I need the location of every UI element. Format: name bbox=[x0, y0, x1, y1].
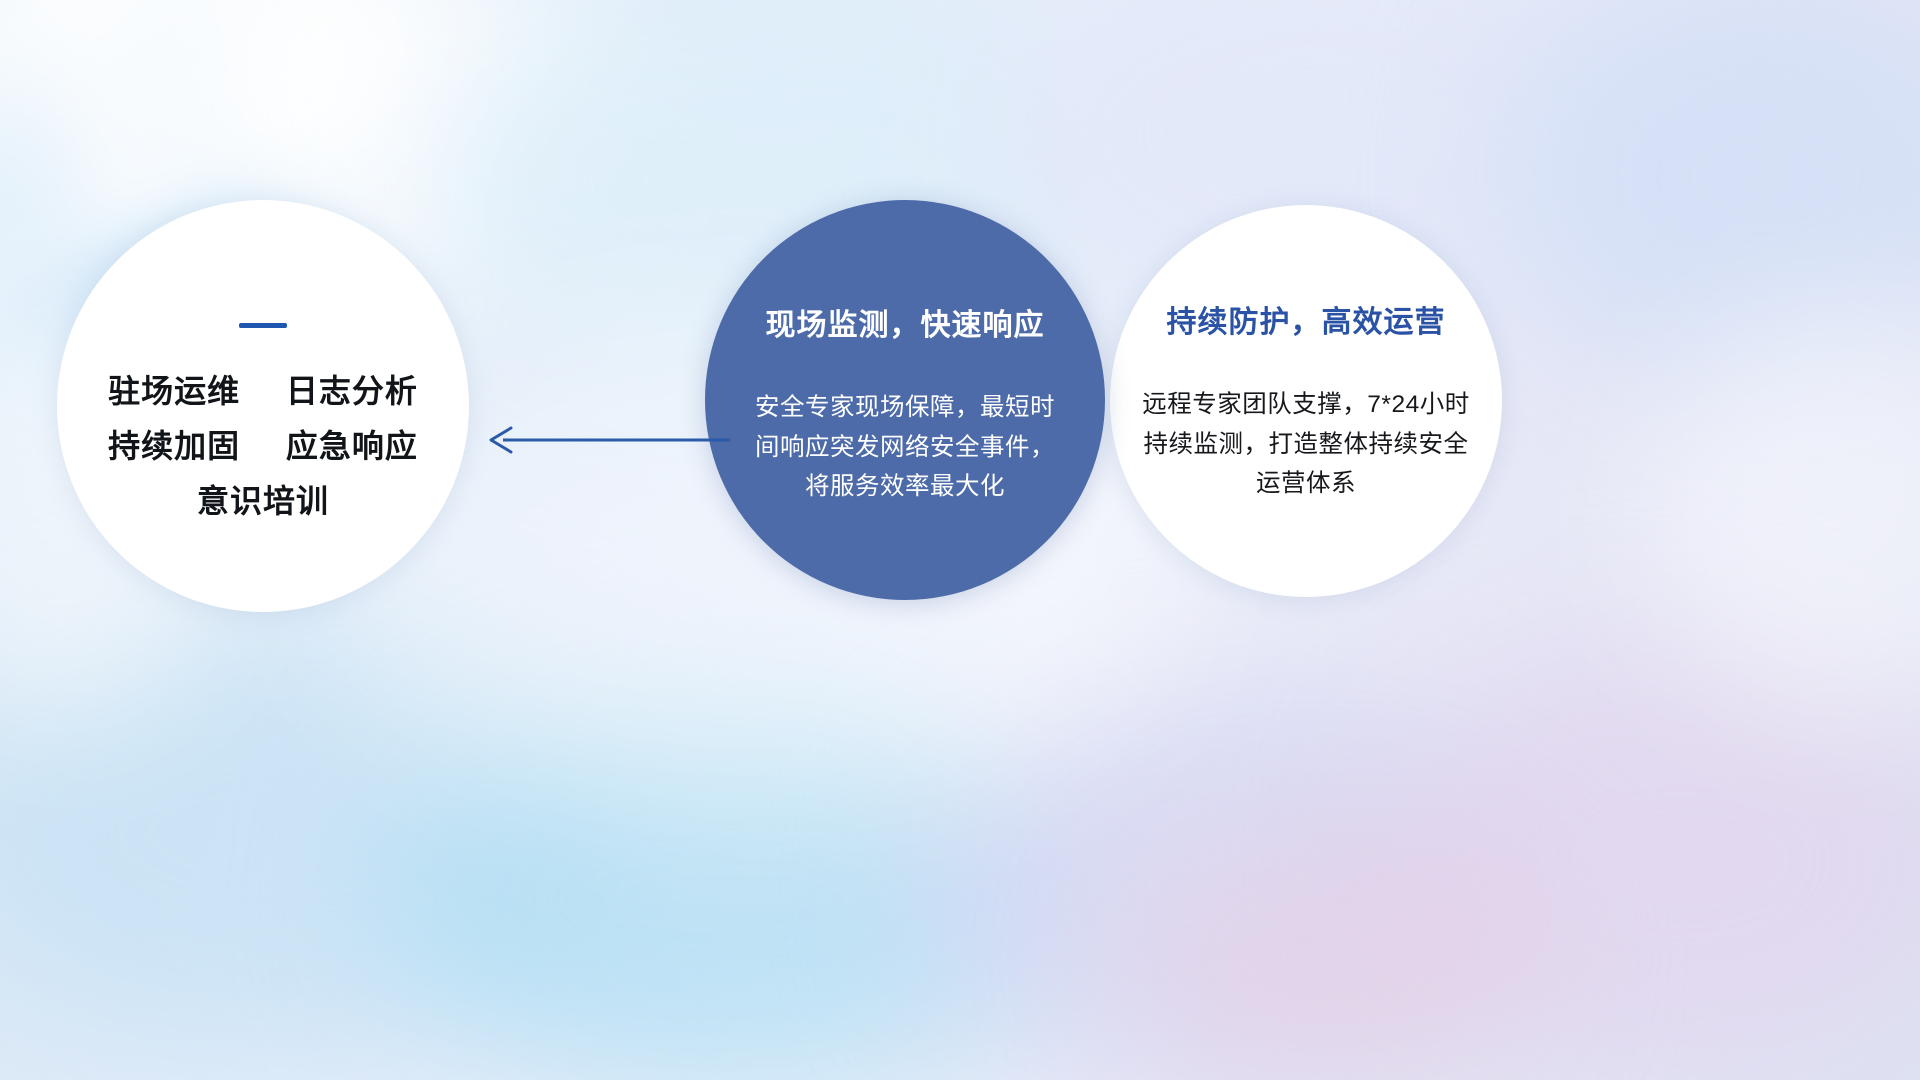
right-circle-body: 远程专家团队支撑，7*24小时持续监测，打造整体持续安全运营体系 bbox=[1141, 385, 1471, 504]
middle-circle-body: 安全专家现场保障，最短时间响应突发网络安全事件，将服务效率最大化 bbox=[755, 388, 1055, 507]
left-capability-circle: 驻场运维 日志分析 持续加固 应急响应 意识培训 bbox=[57, 200, 469, 612]
keyword-yingjixiangying: 应急响应 bbox=[286, 428, 418, 464]
keyword-zhuchangyunwei: 驻场运维 bbox=[108, 373, 240, 409]
background-blob bbox=[1120, 830, 1540, 1080]
middle-service-circle: 现场监测，快速响应 安全专家现场保障，最短时间响应突发网络安全事件，将服务效率最… bbox=[705, 200, 1105, 600]
right-circle-title: 持续防护，高效运营 bbox=[1167, 297, 1446, 341]
keyword-chixujiagu: 持续加固 bbox=[108, 428, 240, 464]
left-circle-line-1: 驻场运维 日志分析 bbox=[108, 364, 418, 419]
left-circle-line-3: 意识培训 bbox=[108, 474, 418, 529]
keyword-yishipeixun: 意识培训 bbox=[197, 483, 329, 519]
right-service-circle: 持续防护，高效运营 远程专家团队支撑，7*24小时持续监测，打造整体持续安全运营… bbox=[1110, 205, 1502, 597]
left-circle-keyword-list: 驻场运维 日志分析 持续加固 应急响应 意识培训 bbox=[108, 364, 418, 529]
keyword-rizhifenxi: 日志分析 bbox=[286, 373, 418, 409]
divider-dash-icon bbox=[239, 323, 287, 328]
flow-arrow-left-icon bbox=[485, 415, 730, 465]
left-circle-line-2: 持续加固 应急响应 bbox=[108, 419, 418, 474]
middle-circle-title: 现场监测，快速响应 bbox=[766, 300, 1045, 344]
